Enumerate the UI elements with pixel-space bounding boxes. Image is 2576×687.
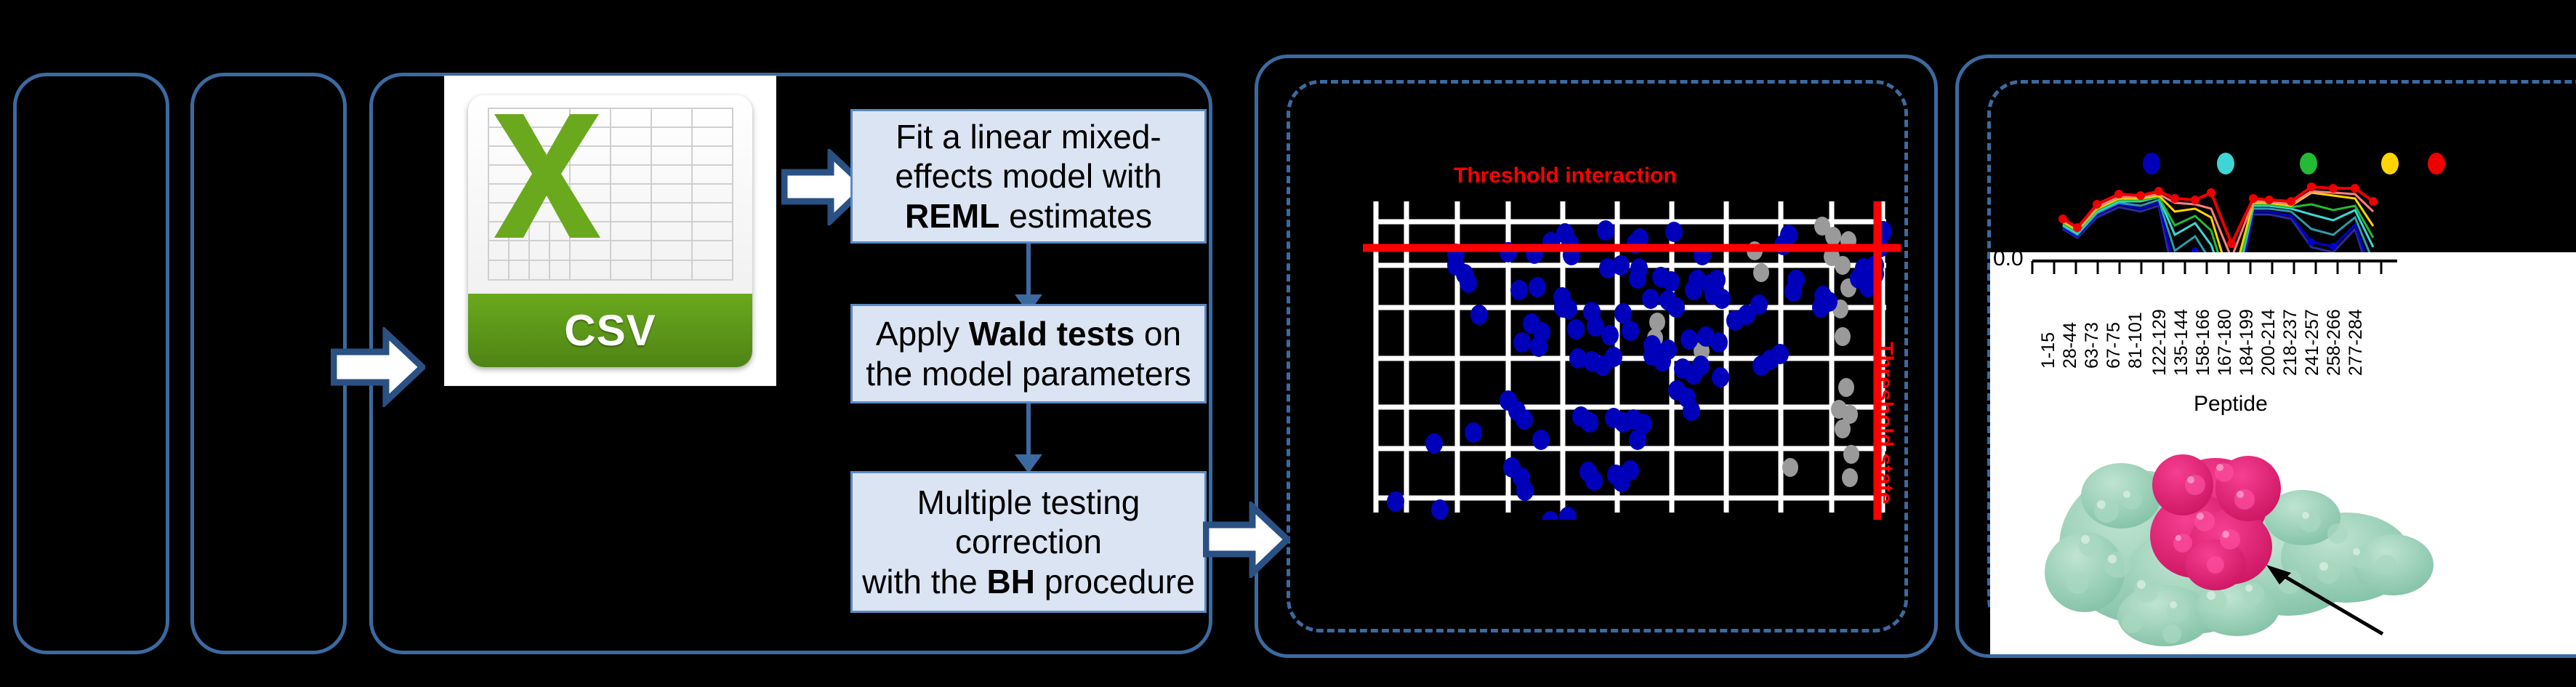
peptide-tick-4: 81-101 [2125,312,2146,369]
process-box-fit-model: Fit a linear mixed- effects model with R… [850,109,1207,244]
process-box-multiple-testing: Multiple testing correction with the BH … [850,471,1207,613]
scatter-threshold-state-label: Threshold state [1872,342,1897,504]
panel-input [13,73,169,654]
scatter-title: Threshold interaction [1454,164,1677,188]
process-box-wald-tests-text: Apply Wald tests on the model parameters [866,314,1191,393]
protein-surface-figure: Binding interface [1997,416,2499,648]
connector-2 [1026,403,1031,458]
connector-1 [1026,244,1031,298]
peptide-tick-13: 258-266 [2324,309,2345,376]
peptide-tick-11: 218-237 [2280,309,2301,376]
peptide-axis-area: 1-15 28-44 63-73 67-75 81-101 122-129 13… [1990,252,2576,654]
peptide-axis-line [1990,252,2576,285]
peptide-tick-10: 200-214 [2258,309,2279,376]
arrow-analysis-to-results [1203,502,1290,578]
peptide-y-origin-label: 0.0 [1993,252,2024,271]
peptide-axis-label: Peptide [2194,392,2268,417]
peptide-tick-0: 1-15 [2038,332,2059,369]
process-box-multiple-testing-text: Multiple testing correction with the BH … [862,483,1195,601]
csv-label: CSV [564,305,656,355]
process-box-wald-tests: Apply Wald tests on the model parameters [850,304,1207,403]
csv-file-icon: CSV [445,76,776,385]
pipeline-figure: CSV Fit a linear mixed- effects model wi… [0,0,2576,687]
process-box-fit-model-text: Fit a linear mixed- effects model with R… [895,117,1162,236]
peptide-tick-6: 135-144 [2171,309,2192,376]
peptide-tick-2: 63-73 [2082,322,2103,369]
peptide-tick-8: 167-180 [2215,309,2236,376]
peptide-tick-12: 241-257 [2302,309,2323,376]
peptide-tick-1: 28-44 [2060,322,2081,369]
peptide-tick-14: 277-284 [2346,309,2367,376]
csv-band: CSV [468,294,752,367]
peptide-tick-9: 184-199 [2237,309,2258,376]
peptide-tick-3: 67-75 [2104,322,2125,369]
peptide-tick-7: 158-166 [2193,309,2214,376]
binding-interface-annotation: Binding interface [2386,603,2467,648]
arrow-input-to-data [331,327,425,407]
volcano-scatter-plot [1363,193,1901,520]
csv-tile: CSV [468,95,752,367]
peptide-tick-5: 122-129 [2149,309,2170,376]
panel-data [190,73,347,654]
